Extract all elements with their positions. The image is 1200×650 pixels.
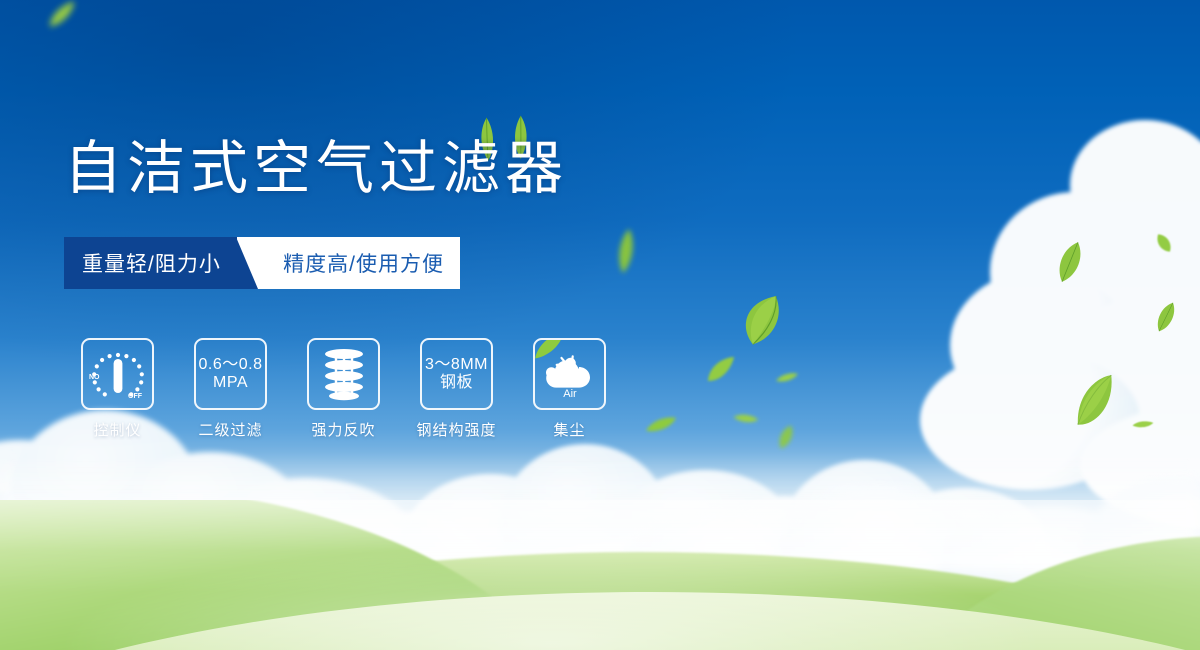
- thickness-line-2: 钢板: [425, 374, 488, 392]
- hero-banner: 自洁式空气过滤器 重量轻/阻力小 精度高/使用方便: [0, 0, 1200, 650]
- pressure-text-icon: 0.6～0.8 MPA: [199, 356, 263, 392]
- subtitle-wedge: [236, 237, 258, 289]
- grass-field: [0, 500, 1200, 650]
- page-title: 自洁式空气过滤器: [64, 140, 568, 198]
- subtitle-bar: 重量轻/阻力小 精度高/使用方便: [64, 237, 460, 289]
- feature-icon-box: NO OFF: [81, 338, 154, 410]
- leaf-icon: [774, 369, 799, 385]
- gauge-dial-icon: NO OFF: [87, 345, 149, 403]
- feature-item-dust-collection[interactable]: Air 集尘: [532, 338, 607, 440]
- dial-off-label: OFF: [128, 393, 143, 400]
- subtitle-right-text: 精度高/使用方便: [283, 248, 444, 278]
- feature-label: 集尘: [553, 419, 585, 440]
- feature-icon-box: 3～8MM 钢板: [420, 338, 493, 410]
- feature-label: 控制仪: [93, 419, 141, 440]
- coil-filter-icon: [318, 346, 370, 402]
- pressure-line-2: MPA: [199, 374, 263, 392]
- feature-item-controller[interactable]: NO OFF 控制仪: [80, 338, 155, 440]
- subtitle-left-segment: 重量轻/阻力小: [64, 237, 237, 289]
- feature-item-two-stage-filter[interactable]: 0.6～0.8 MPA 二级过滤: [193, 338, 268, 440]
- feature-list: NO OFF 控制仪 0.6～0.8 MPA 二级过滤: [80, 338, 607, 440]
- thickness-text-icon: 3～8MM 钢板: [425, 356, 488, 392]
- feature-icon-box: [307, 338, 380, 410]
- cloud-air-label: Air: [563, 388, 577, 399]
- dial-on-label: NO: [89, 374, 100, 381]
- thickness-line-1: 3～8MM: [425, 356, 488, 373]
- ground-sheen: [0, 500, 1200, 650]
- feature-item-pulse-blowback[interactable]: 强力反吹: [306, 338, 381, 440]
- leaf-icon: [1132, 417, 1155, 431]
- feature-icon-box: Air: [533, 338, 606, 410]
- feature-icon-box: 0.6～0.8 MPA: [194, 338, 267, 410]
- subtitle-left-text: 重量轻/阻力小: [82, 248, 221, 278]
- feature-label: 强力反吹: [311, 419, 375, 440]
- subtitle-right-segment: 精度高/使用方便: [236, 237, 460, 289]
- feature-label: 钢结构强度: [417, 419, 497, 440]
- feature-label: 二级过滤: [198, 419, 262, 440]
- pressure-line-1: 0.6～0.8: [199, 356, 263, 373]
- feature-item-steel-strength[interactable]: 3～8MM 钢板 钢结构强度: [419, 338, 494, 440]
- cloud-air-icon: Air: [541, 349, 599, 399]
